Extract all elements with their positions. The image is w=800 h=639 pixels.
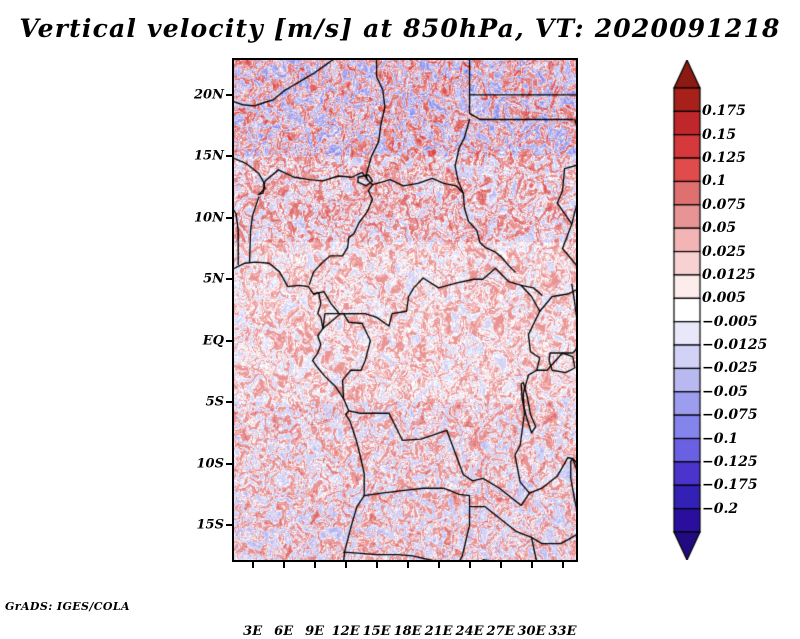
y-tick-mark <box>226 524 232 526</box>
page-title: Vertical velocity [m/s] at 850hPa, VT: 2… <box>0 14 800 43</box>
x-tick-mark <box>407 562 409 568</box>
x-tick-mark <box>531 562 533 568</box>
y-tick-label: 10S <box>164 456 224 471</box>
x-tick-label: 21E <box>425 624 453 639</box>
y-tick-mark <box>226 217 232 219</box>
y-tick-label: 5N <box>164 272 224 287</box>
colorbar-tick-label: 0.025 <box>702 244 746 260</box>
x-tick-mark <box>500 562 502 568</box>
colorbar-tick-label: 0.175 <box>702 103 746 119</box>
x-tick-label: 3E <box>243 624 262 639</box>
colorbar-tick-label: 0.05 <box>702 220 736 236</box>
colorbar-tick-label: −0.2 <box>702 501 738 517</box>
colorbar-swatches <box>672 60 702 560</box>
colorbar-tick-label: −0.075 <box>702 407 758 423</box>
x-tick-label: 15E <box>363 624 391 639</box>
x-tick-mark <box>252 562 254 568</box>
colorbar-tick-label: −0.125 <box>702 454 758 470</box>
x-tick-mark <box>345 562 347 568</box>
y-tick-mark <box>226 340 232 342</box>
y-tick-mark <box>226 401 232 403</box>
x-tick-mark <box>283 562 285 568</box>
x-tick-label: 30E <box>518 624 546 639</box>
vertical-velocity-heatmap <box>232 58 578 562</box>
y-tick-mark <box>226 155 232 157</box>
colorbar[interactable]: 0.1750.150.1250.10.0750.050.0250.01250.0… <box>672 60 792 560</box>
x-tick-label: 12E <box>332 624 360 639</box>
colorbar-tick-label: −0.0125 <box>702 337 767 353</box>
x-tick-mark <box>562 562 564 568</box>
colorbar-tick-label: −0.1 <box>702 431 738 447</box>
x-tick-label: 9E <box>305 624 324 639</box>
colorbar-tick-label: 0.15 <box>702 127 736 143</box>
colorbar-tick-label: 0.0125 <box>702 267 756 283</box>
colorbar-tick-label: 0.005 <box>702 290 746 306</box>
x-tick-label: 18E <box>394 624 422 639</box>
y-tick-label: 10N <box>164 210 224 225</box>
map-panel[interactable]: 20N15N10N5NEQ5S10S15S 3E6E9E12E15E18E21E… <box>232 58 578 562</box>
x-tick-label: 27E <box>487 624 515 639</box>
x-tick-label: 33E <box>549 624 577 639</box>
colorbar-tick-label: −0.025 <box>702 360 758 376</box>
colorbar-tick-label: −0.05 <box>702 384 748 400</box>
colorbar-tick-label: 0.125 <box>702 150 746 166</box>
colorbar-tick-label: 0.1 <box>702 173 726 189</box>
colorbar-tick-label: −0.005 <box>702 314 758 330</box>
y-tick-label: 5S <box>164 395 224 410</box>
y-tick-label: 20N <box>164 87 224 102</box>
x-tick-mark <box>469 562 471 568</box>
y-tick-label: 15S <box>164 518 224 533</box>
x-tick-label: 24E <box>456 624 484 639</box>
y-tick-label: 15N <box>164 149 224 164</box>
colorbar-tick-label: 0.075 <box>702 197 746 213</box>
x-tick-label: 6E <box>274 624 293 639</box>
x-tick-mark <box>314 562 316 568</box>
y-tick-mark <box>226 463 232 465</box>
colorbar-tick-label: −0.175 <box>702 477 758 493</box>
y-tick-mark <box>226 94 232 96</box>
x-tick-mark <box>438 562 440 568</box>
y-tick-mark <box>226 278 232 280</box>
grads-plot-page: Vertical velocity [m/s] at 850hPa, VT: 2… <box>0 0 800 618</box>
credit-text: GrADS: IGES/COLA <box>5 600 130 613</box>
y-tick-label: EQ <box>164 333 224 348</box>
x-tick-mark <box>376 562 378 568</box>
